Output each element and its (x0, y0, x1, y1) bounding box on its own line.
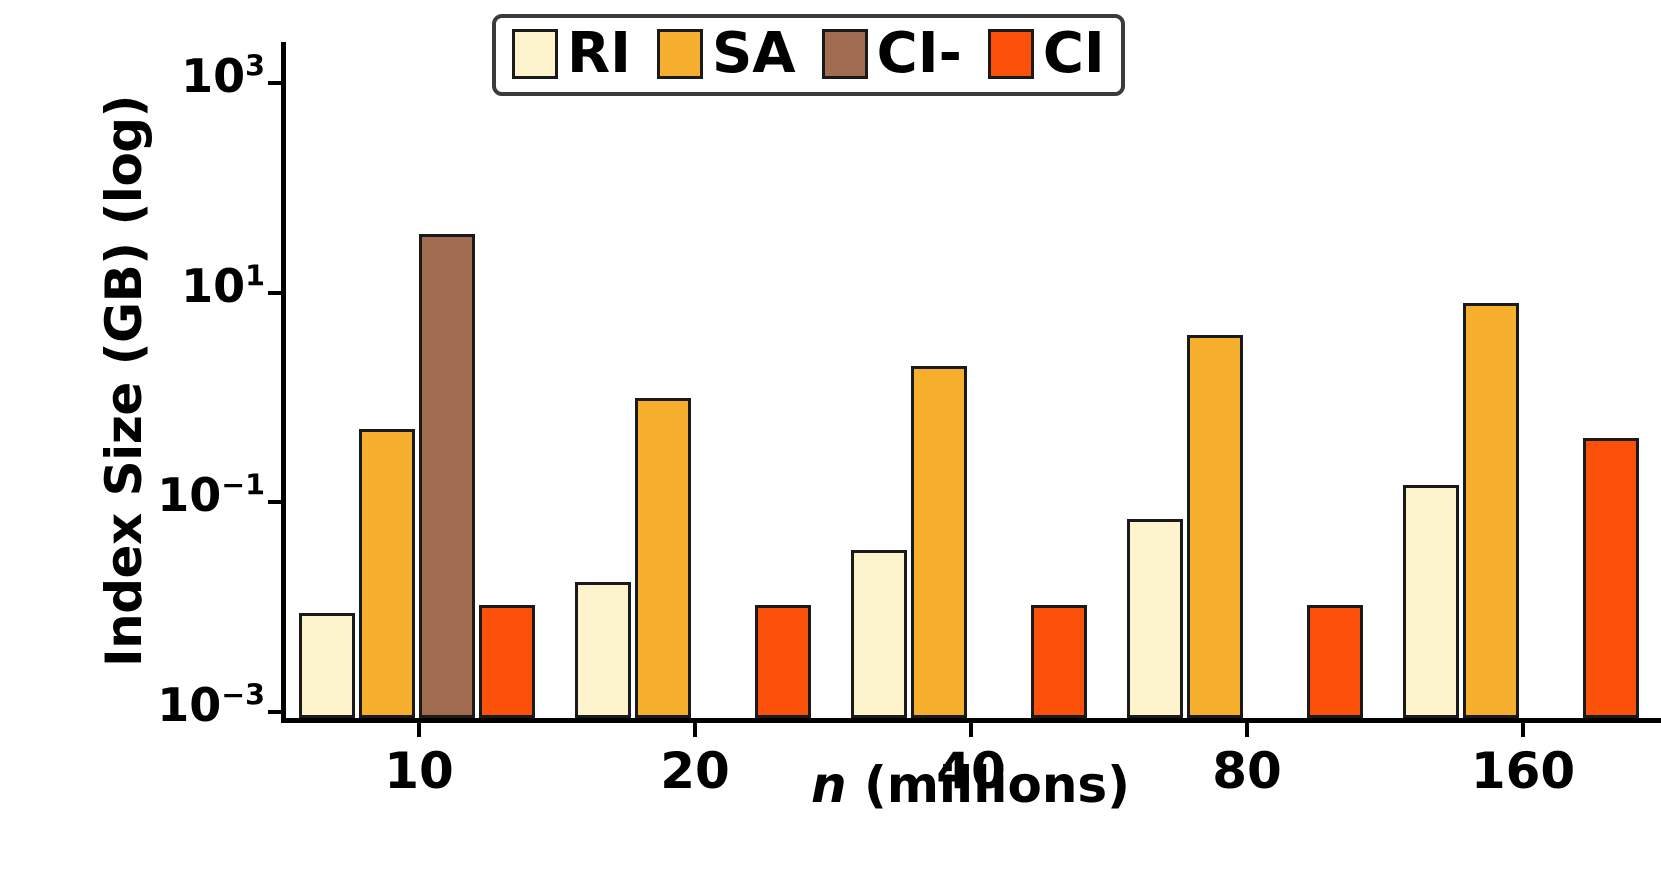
legend-swatch-icon (512, 29, 558, 79)
x-axis-tick-label: 40 (936, 742, 1006, 800)
legend-label: RI (567, 26, 631, 82)
legend-label: CI (1043, 26, 1105, 82)
x-axis-tick-label: 160 (1471, 742, 1575, 800)
y-tick-mantissa: 10 (181, 259, 245, 313)
x-axis-tick-label: 20 (660, 742, 730, 800)
y-tick-mantissa: 10 (157, 468, 221, 522)
y-axis-tick-label: 103 (181, 53, 265, 99)
bar-ri-80 (1127, 519, 1183, 718)
y-tick-exponent: 3 (245, 50, 265, 83)
legend-label: SA (712, 26, 796, 82)
legend-label: CI- (877, 26, 962, 82)
x-axis-tick (1245, 723, 1249, 737)
bar-ri-40 (851, 550, 907, 718)
bar-ci-20 (755, 605, 811, 718)
plot-area: 10310110−110−3 10204080160 (281, 42, 1661, 723)
bar-ci-40 (1031, 605, 1087, 718)
x-axis-tick (1521, 723, 1525, 737)
legend-entry-sa: SA (657, 26, 796, 82)
y-tick-exponent: 1 (245, 259, 265, 292)
bar-sa-10 (359, 429, 415, 718)
y-tick-mantissa: 10 (181, 49, 245, 103)
legend-entry-ci: CI- (822, 26, 962, 82)
bar-ci-160 (1583, 438, 1639, 718)
bar-sa-160 (1463, 303, 1519, 718)
y-axis-tick (268, 710, 281, 714)
y-axis-tick-label: 101 (181, 263, 265, 309)
bar-ci-10 (419, 234, 475, 718)
bar-ri-20 (575, 582, 631, 718)
y-axis-tick (268, 291, 281, 295)
y-axis-tick-label: 10−3 (157, 682, 265, 728)
x-axis-tick-label: 80 (1212, 742, 1282, 800)
x-axis-title-symbol: n (811, 756, 847, 814)
legend-swatch-icon (657, 29, 703, 79)
y-tick-mantissa: 10 (157, 678, 221, 732)
y-tick-exponent: −1 (221, 469, 265, 502)
bar-sa-20 (635, 398, 691, 718)
chart-canvas: Index Size (GB) (log) n (millions) 10310… (0, 0, 1661, 886)
legend-entry-ci: CI (988, 26, 1105, 82)
bar-ci-80 (1307, 605, 1363, 718)
x-axis-tick (969, 723, 973, 737)
y-axis-tick-label: 10−1 (157, 472, 265, 518)
y-axis-tick (268, 81, 281, 85)
bar-ci-10 (479, 605, 535, 718)
x-axis-tick-label: 10 (384, 742, 454, 800)
y-axis-tick (268, 500, 281, 504)
bar-ri-160 (1403, 485, 1459, 718)
chart-legend: RISACI-CI (492, 14, 1125, 96)
bar-ri-10 (299, 613, 355, 718)
x-axis-tick (417, 723, 421, 737)
y-axis-spine (281, 42, 286, 723)
y-tick-exponent: −3 (221, 679, 265, 712)
x-axis-tick (693, 723, 697, 737)
legend-swatch-icon (822, 29, 868, 79)
bar-sa-40 (911, 366, 967, 718)
legend-entry-ri: RI (512, 26, 631, 82)
bar-sa-80 (1187, 335, 1243, 718)
legend-swatch-icon (988, 29, 1034, 79)
y-axis-title: Index Size (GB) (log) (95, 11, 153, 751)
